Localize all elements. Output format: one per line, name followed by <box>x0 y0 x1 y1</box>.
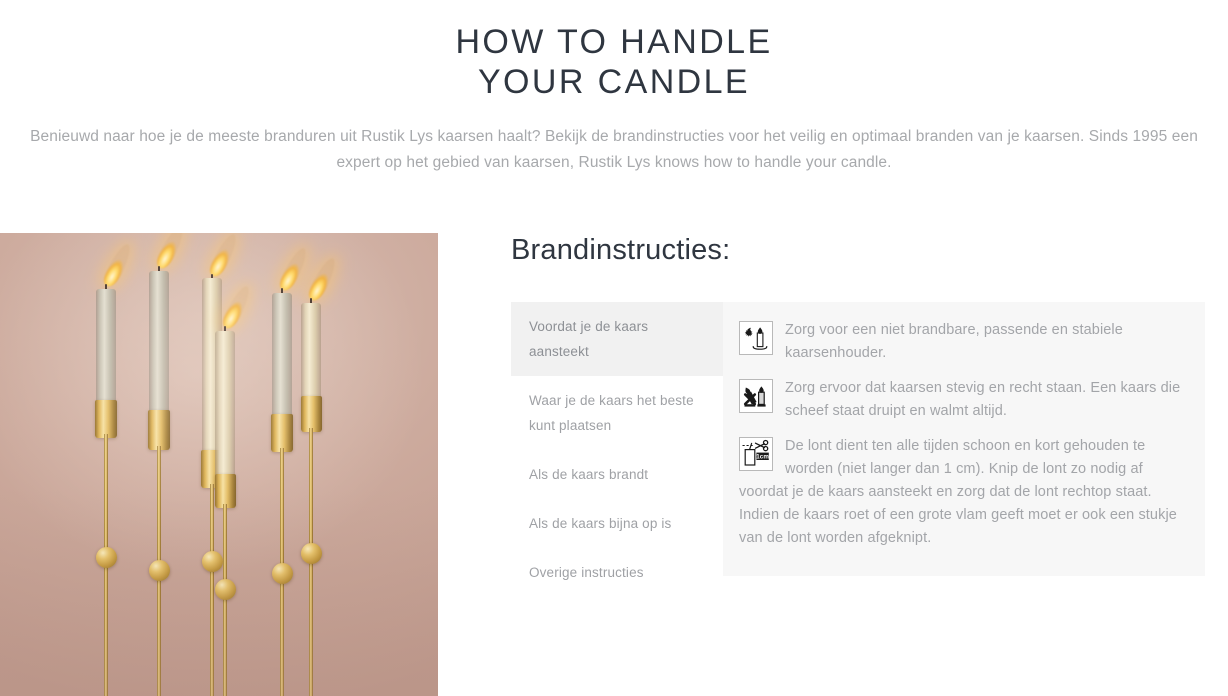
tab-label: Als de kaars bijna op is <box>529 499 705 548</box>
main-content: Brandinstructies: Voordat je de kaars aa… <box>0 233 1228 696</box>
photo-vignette <box>0 233 438 696</box>
accordion-tab-list: Voordat je de kaars aansteekt Waar je de… <box>511 302 723 597</box>
page-title-line-2: YOUR CANDLE <box>0 62 1228 102</box>
section-title: Brandinstructies: <box>511 233 1205 267</box>
instruction-item: 1cm De lont dient ten alle tijden schoon… <box>739 435 1183 550</box>
tab-label: Als de kaars brandt <box>529 450 705 499</box>
tab-overige-instructies[interactable]: Overige instructies <box>511 548 723 597</box>
page-hero: HOW TO HANDLE YOUR CANDLE Benieuwd naar … <box>0 0 1228 176</box>
page-title-line-1: HOW TO HANDLE <box>0 22 1228 62</box>
page-title: HOW TO HANDLE YOUR CANDLE <box>0 22 1228 102</box>
candles-photo <box>0 233 438 696</box>
tab-als-de-kaars-bijna-op-is[interactable]: Als de kaars bijna op is <box>511 499 723 548</box>
trim-wick-1cm-icon: 1cm <box>739 437 773 471</box>
instruction-text: Zorg voor een niet brandbare, passende e… <box>739 319 1183 365</box>
page-subtitle: Benieuwd naar hoe je de meeste branduren… <box>16 124 1212 176</box>
instruction-item: Zorg voor een niet brandbare, passende e… <box>739 319 1183 365</box>
instruction-text: De lont dient ten alle tijden schoon en … <box>739 435 1183 550</box>
tab-waar-je-de-kaars-het-beste-kunt-plaatsen[interactable]: Waar je de kaars het beste kunt plaatsen <box>511 376 723 450</box>
icon-label-1cm: 1cm <box>756 453 769 460</box>
instructions-column: Brandinstructies: Voordat je de kaars aa… <box>511 233 1205 576</box>
tab-label: Overige instructies <box>529 548 705 597</box>
tab-als-de-kaars-brandt[interactable]: Als de kaars brandt <box>511 450 723 499</box>
tab-voordat-je-de-kaars-aansteekt[interactable]: Voordat je de kaars aansteekt <box>511 302 723 376</box>
tab-label: Voordat je de kaars aansteekt <box>529 302 705 376</box>
candle-upright-vs-tilted-icon <box>739 379 773 413</box>
tab-label: Waar je de kaars het beste kunt plaatsen <box>529 376 705 450</box>
instruction-text: Zorg ervoor dat kaarsen stevig en recht … <box>739 377 1183 423</box>
instruction-item: Zorg ervoor dat kaarsen stevig en recht … <box>739 377 1183 423</box>
accordion-panel: Zorg voor een niet brandbare, passende e… <box>723 302 1205 576</box>
instructions-accordion: Voordat je de kaars aansteekt Waar je de… <box>511 302 1205 576</box>
candle-in-holder-icon <box>739 321 773 355</box>
